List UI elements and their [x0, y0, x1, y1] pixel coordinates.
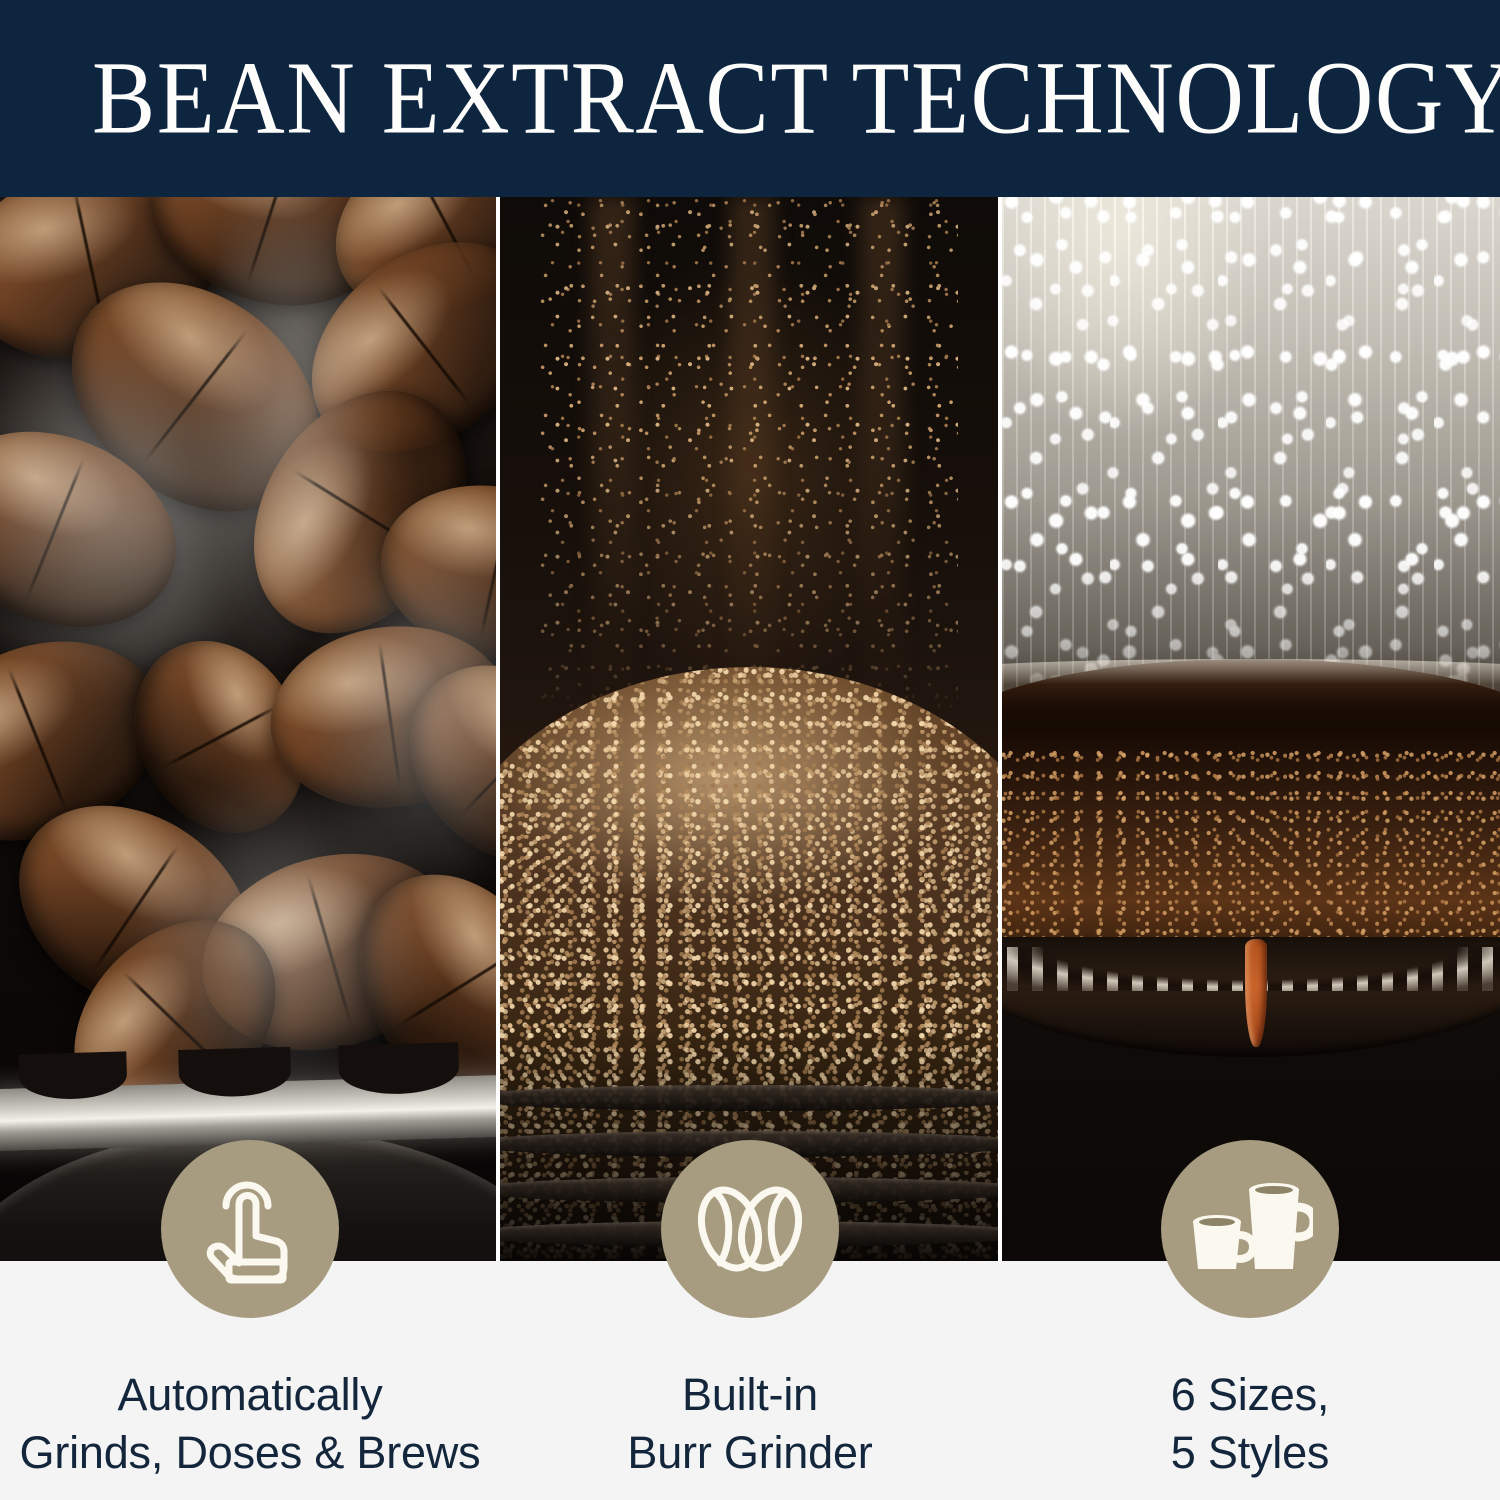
hopper-ring: [500, 1085, 998, 1111]
feature-item-burr-grinder: Built-in Burr Grinder: [500, 1140, 1000, 1500]
two-cups-icon: [1187, 1177, 1313, 1281]
photo-strip: [0, 197, 1500, 1261]
feature-item-sizes-styles: 6 Sizes, 5 Styles: [1000, 1140, 1500, 1500]
blade-notch: [338, 1042, 459, 1095]
puck-wet-sheen: [1002, 659, 1500, 705]
feature-caption: 6 Sizes, 5 Styles: [1171, 1366, 1329, 1481]
falling-grounds: [540, 197, 958, 717]
touch-hand-icon: [202, 1174, 298, 1284]
header-banner: BEAN EXTRACT TECHNOLOGY: [0, 0, 1500, 197]
feature-item-automatic: Automatically Grinds, Doses & Brews: [0, 1140, 500, 1500]
feature-badge: [161, 1140, 339, 1318]
page-title: BEAN EXTRACT TECHNOLOGY: [92, 46, 1500, 150]
coffee-beans-grinder-blade-photo: [0, 197, 496, 1261]
feature-badge: [661, 1140, 839, 1318]
coffee-beans-icon: [690, 1178, 810, 1280]
feature-badge: [1161, 1140, 1339, 1318]
ground-coffee-falling-photo: [500, 197, 998, 1261]
blade-notch: [178, 1047, 291, 1098]
puck-grounds-texture: [1002, 749, 1500, 959]
coffee-puck: [1002, 659, 1500, 969]
product-feature-infographic: BEAN EXTRACT TECHNOLOGY: [0, 0, 1500, 1500]
blade-notch: [18, 1051, 127, 1100]
water-brewing-coffee-puck-photo: [1002, 197, 1500, 1261]
water-droplets: [1002, 197, 1500, 707]
feature-caption: Built-in Burr Grinder: [627, 1366, 872, 1481]
feature-caption: Automatically Grinds, Doses & Brews: [20, 1366, 481, 1481]
feature-list: Automatically Grinds, Doses & Brews Buil…: [0, 1140, 1500, 1500]
